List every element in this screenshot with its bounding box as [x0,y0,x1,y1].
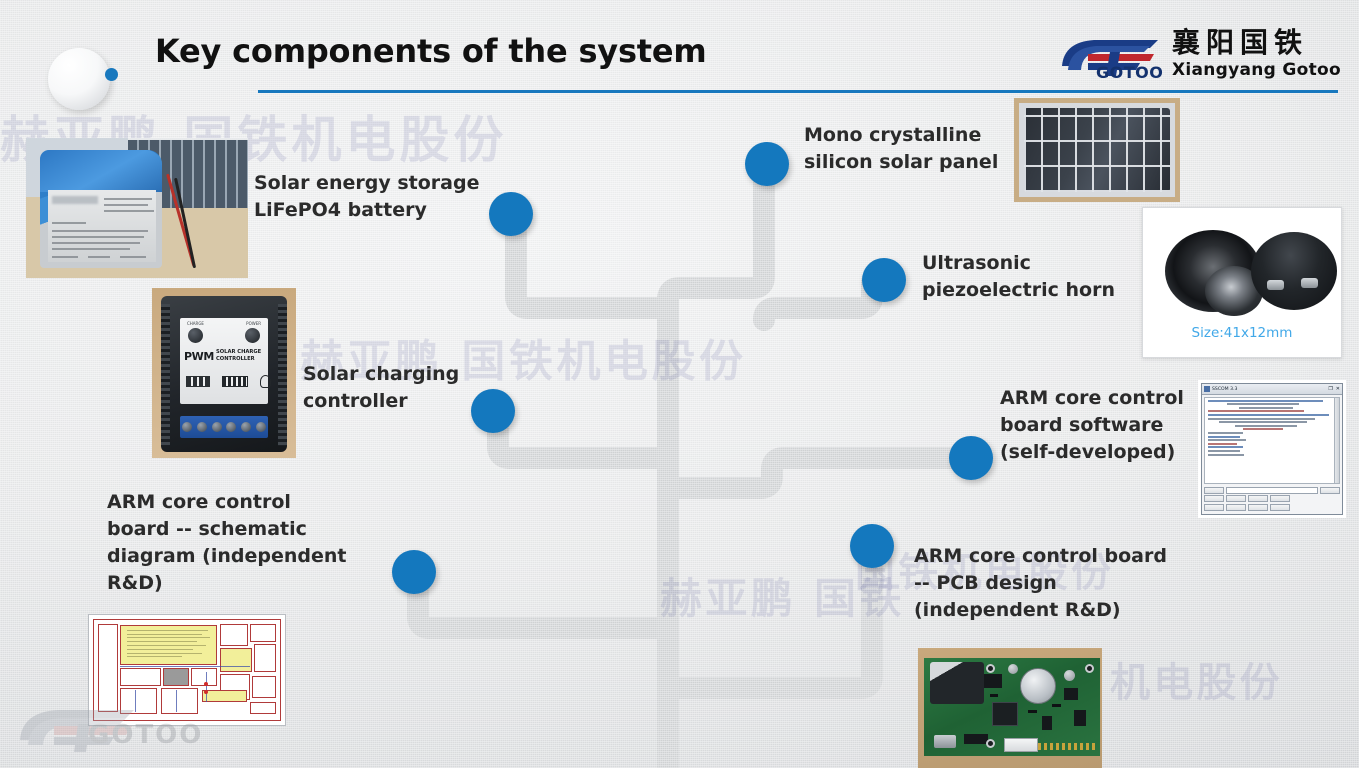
title-underline [258,90,1338,93]
sw-hex-checkbox[interactable] [1226,504,1246,511]
page-title-text: Key components of the system [155,32,707,70]
sw-scrollbar[interactable] [1334,398,1339,483]
controller-model-line-2: CONTROLLER [216,356,255,362]
sw-save-button[interactable] [1270,495,1290,502]
photo-piezoelectric-horn: Size:41x12mm [1142,207,1342,358]
label-pcb: ARM core control board -- PCB design (in… [914,543,1214,624]
label-schematic: ARM core control board -- schematic diag… [107,489,397,597]
photo-solar-charge-controller: CHARGE POWER PWM SOLAR CHARGE CONTROLLER [152,288,296,458]
node-horn[interactable] [862,258,906,302]
controller-charge-label: CHARGE [187,321,204,326]
photo-monocrystalline-solar-panel [1014,98,1180,202]
gotoo-gf-mark-icon: GOTOO [1054,32,1166,80]
photo-arm-pcb-board [918,648,1102,768]
sw-window-title: SSCOM 3.3 [1212,387,1328,392]
node-schematic[interactable] [392,550,436,594]
photo-lifepo4-battery [26,138,248,278]
company-logo: GOTOO 襄阳国铁 Xiangyang Gotoo [1054,28,1341,80]
sw-terminal-output[interactable] [1204,397,1340,484]
sw-loop-checkbox[interactable] [1248,504,1268,511]
photo-arm-software-screenshot: SSCOM 3.3 ❐ ✕ [1198,380,1346,518]
sw-open-button[interactable] [1226,495,1246,502]
decorative-dot [105,68,118,81]
node-software[interactable] [949,436,993,480]
logo-gotoo-text: GOTOO [1096,63,1163,82]
sw-send-button[interactable] [1248,495,1268,502]
controller-power-label: POWER [246,321,261,326]
label-battery: Solar energy storage LiFePO4 battery [254,170,504,224]
close-icon[interactable]: ✕ [1336,386,1340,392]
label-solar-panel: Mono crystalline silicon solar panel [804,122,1019,176]
label-software: ARM core control board software (self-de… [1000,385,1210,466]
watermark-text: 机电股份 [1110,650,1283,708]
controller-brand: PWM [184,350,214,363]
logo-names: 襄阳国铁 Xiangyang Gotoo [1172,29,1341,80]
watermark-text: 赫亚鹏 国铁 [660,565,905,626]
page-title: Key components of the system [155,32,707,70]
logo-chinese-name: 襄阳国铁 [1172,29,1308,57]
controller-model-line-1: SOLAR CHARGE [216,349,261,355]
label-horn: Ultrasonic piezoelectric horn [922,250,1147,304]
footer-gotoo-watermark-icon: GOTOO [14,700,224,754]
decorative-sphere [48,48,110,110]
node-solar-panel[interactable] [745,142,789,186]
minimize-icon[interactable]: ❐ [1328,386,1332,392]
sw-baud-select[interactable] [1204,504,1224,511]
sw-clear-button[interactable] [1320,487,1340,494]
sw-extra-button[interactable] [1270,504,1290,511]
horn-size-caption: Size:41x12mm [1143,325,1341,341]
logo-english-name: Xiangyang Gotoo [1172,60,1341,80]
node-pcb[interactable] [850,524,894,568]
sw-send-input[interactable] [1226,487,1318,494]
footer-watermark-text: GOTOO [88,720,203,750]
sw-port-select[interactable] [1204,495,1224,502]
sw-send-mode-button[interactable] [1204,487,1224,494]
label-controller: Solar charging controller [303,361,493,415]
slide-canvas: 赫亚鹏 国铁机电股份 赫亚鹏 国铁机电股份 赫亚鹏 国铁 国铁机电股份 机电股份… [0,0,1359,768]
